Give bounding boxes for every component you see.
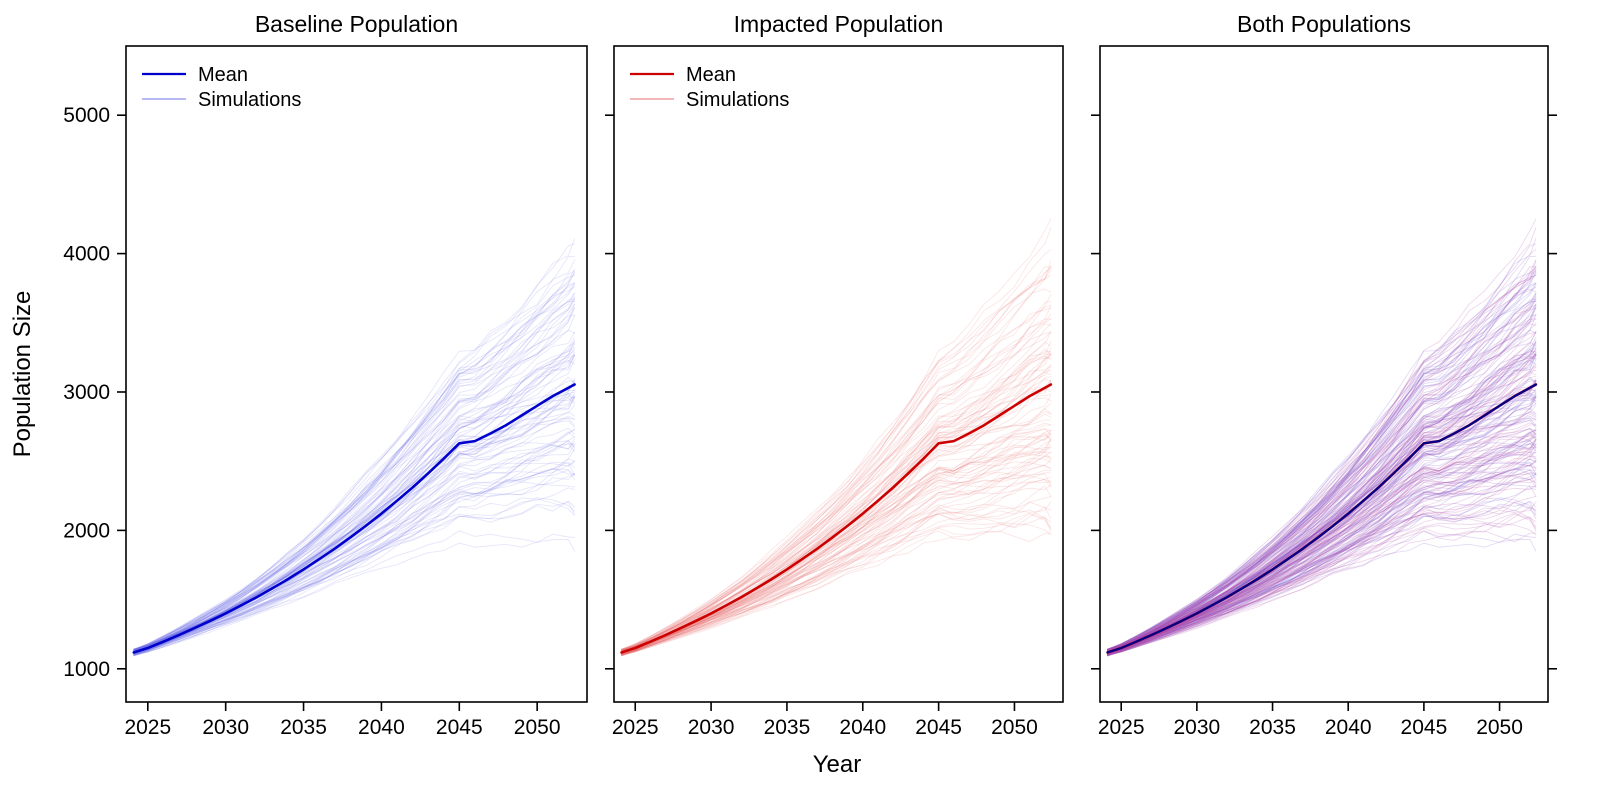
x-axis-label: Year — [813, 751, 862, 778]
x-tick-label: 2040 — [1325, 716, 1372, 739]
panel-title-baseline: Baseline Population — [255, 11, 458, 37]
panel-title-impacted: Impacted Population — [734, 11, 944, 37]
legend-label-mean: Mean — [686, 64, 736, 86]
legend-label-simulations: Simulations — [198, 89, 301, 111]
y-tick-label: 2000 — [63, 519, 110, 542]
x-tick-label: 2045 — [436, 716, 483, 739]
x-tick-label: 2050 — [1476, 716, 1523, 739]
x-tick-label: 2035 — [280, 716, 327, 739]
y-tick-label: 3000 — [63, 381, 110, 404]
x-tick-label: 2030 — [688, 716, 735, 739]
x-tick-label: 2035 — [764, 716, 811, 739]
y-tick-label: 1000 — [63, 658, 110, 681]
x-tick-label: 2025 — [124, 716, 171, 739]
x-tick-label: 2030 — [202, 716, 249, 739]
legend-label-mean: Mean — [198, 64, 248, 86]
y-axis-label: Population Size — [9, 291, 36, 458]
panel-title-both: Both Populations — [1237, 11, 1411, 37]
x-tick-label: 2045 — [915, 716, 962, 739]
y-tick-label: 4000 — [63, 243, 110, 266]
x-tick-label: 2040 — [839, 716, 886, 739]
x-tick-label: 2050 — [514, 716, 561, 739]
y-tick-label: 5000 — [63, 104, 110, 127]
population-projection-figure: Population Size Year Baseline Population… — [0, 0, 1600, 800]
x-tick-label: 2035 — [1249, 716, 1296, 739]
x-tick-label: 2025 — [612, 716, 659, 739]
x-tick-label: 2050 — [991, 716, 1038, 739]
x-tick-label: 2030 — [1174, 716, 1221, 739]
x-tick-label: 2045 — [1401, 716, 1448, 739]
legend-label-simulations: Simulations — [686, 89, 789, 111]
chart-canvas: Population Size Year Baseline Population… — [0, 0, 1600, 800]
x-tick-label: 2025 — [1098, 716, 1145, 739]
x-tick-label: 2040 — [358, 716, 405, 739]
figure-background — [0, 0, 1600, 800]
